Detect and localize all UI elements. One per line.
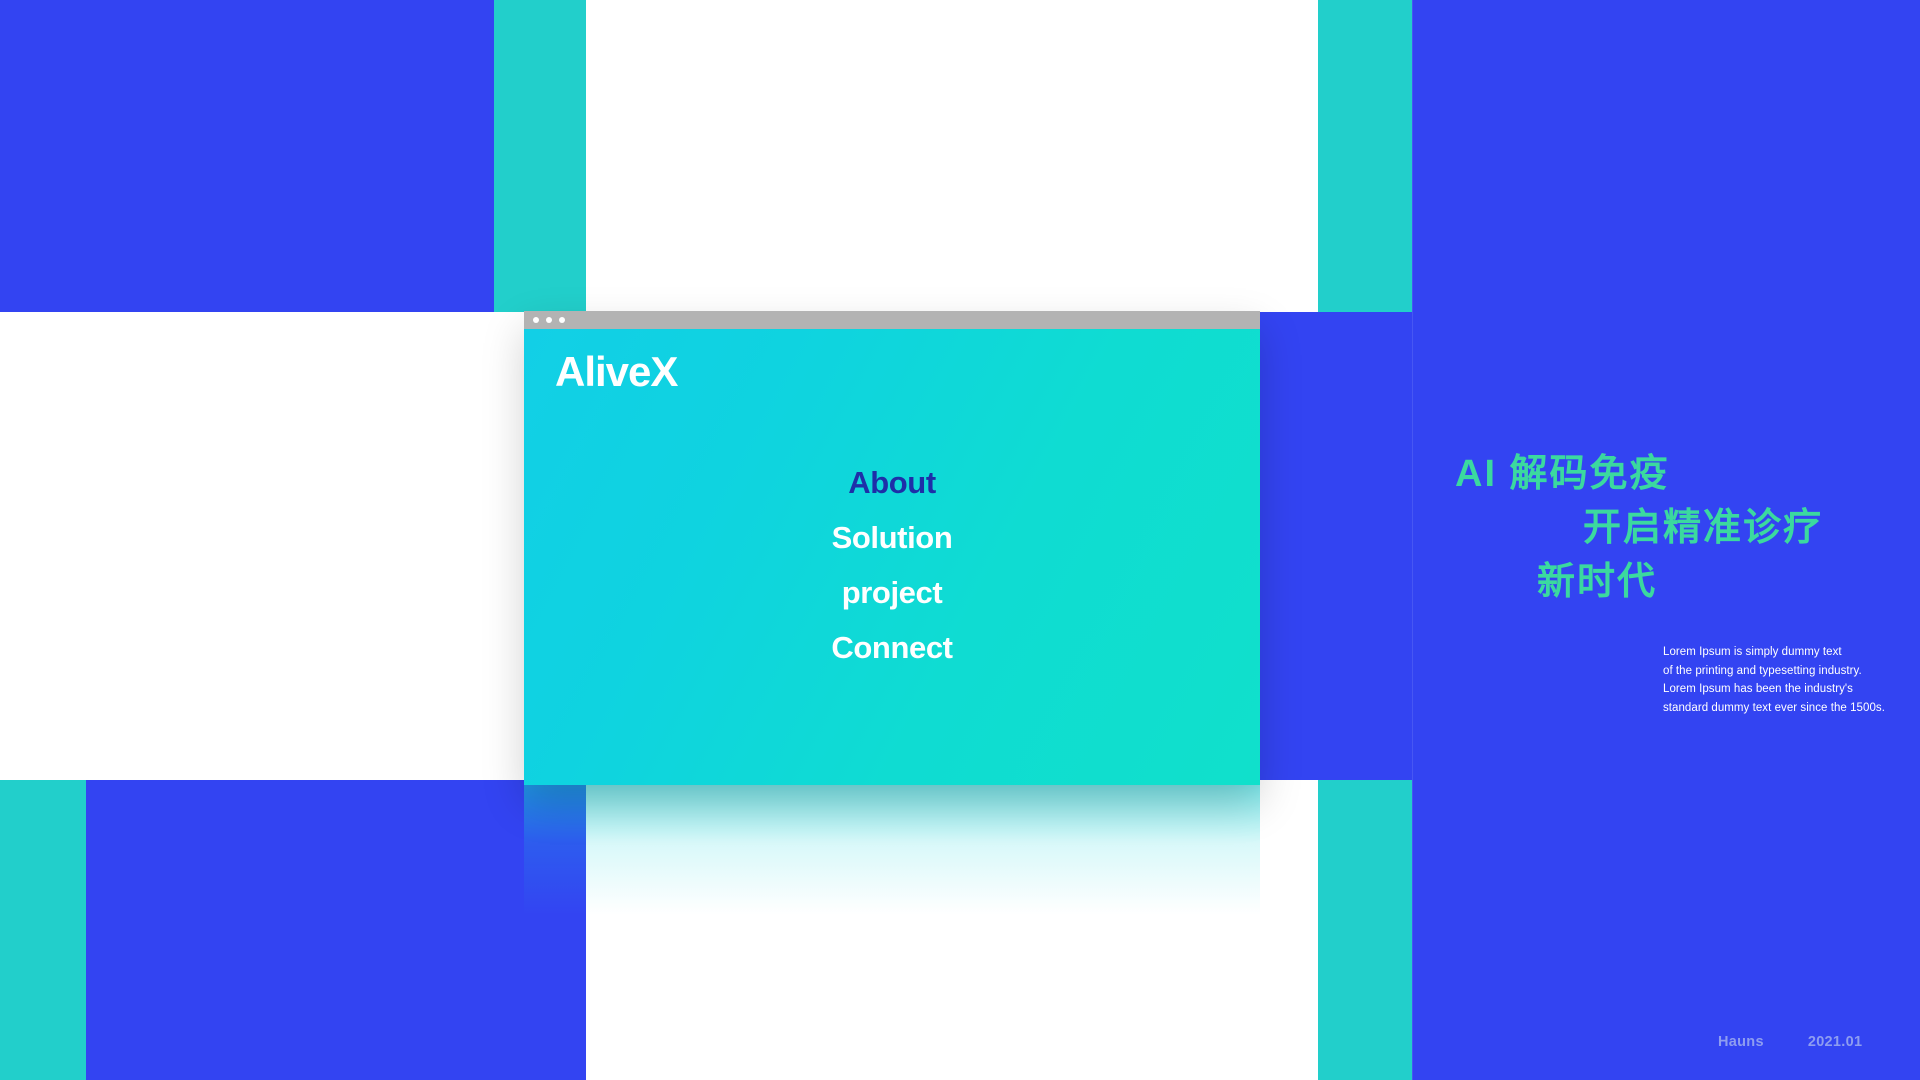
bg-block-bottom-left-teal [0, 780, 86, 1080]
bg-block-top-right-teal-bar [1318, 0, 1412, 312]
slide-canvas: AliveX About Solution project Connect AI… [0, 0, 1920, 1080]
panel-divider-line [1412, 0, 1413, 1080]
footer-author: Hauns [1718, 1034, 1764, 1050]
nav-item-project[interactable]: project [842, 577, 943, 608]
window-maximize-dot-icon[interactable] [559, 317, 565, 323]
nav-item-about[interactable]: About [848, 467, 936, 498]
bg-block-top-left-blue [0, 0, 494, 312]
bg-block-mid-right-blue [1260, 312, 1412, 780]
body-copy-paragraph: Lorem Ipsum is simply dummy text of the … [1663, 643, 1893, 718]
body-copy-line-4: standard dummy text ever since the 1500s… [1663, 699, 1893, 718]
browser-window-reflection [524, 785, 1260, 915]
footer-date: 2021.01 [1808, 1034, 1863, 1050]
bg-block-top-teal-bar [494, 0, 586, 312]
nav-item-connect[interactable]: Connect [831, 632, 952, 663]
main-navigation: About Solution project Connect [524, 467, 1260, 663]
bg-block-bottom-right-teal [1318, 780, 1412, 1080]
nav-item-solution[interactable]: Solution [832, 522, 953, 553]
alivex-logo[interactable]: AliveX [555, 351, 677, 393]
body-copy-line-3: Lorem Ipsum has been the industry's [1663, 680, 1893, 699]
headline-line-3: 新时代 [1455, 556, 1875, 610]
window-close-dot-icon[interactable] [533, 317, 539, 323]
bg-block-bottom-blue [86, 780, 586, 1080]
browser-window-mockup: AliveX About Solution project Connect [524, 311, 1260, 785]
headline-line-1: AI 解码免疫 [1455, 448, 1875, 502]
bg-block-bottom-right-white [1260, 780, 1318, 1080]
browser-titlebar [524, 311, 1260, 329]
body-copy-line-2: of the printing and typesetting industry… [1663, 662, 1893, 681]
page-headline: AI 解码免疫 开启精准诊疗 新时代 [1455, 448, 1875, 610]
browser-viewport: AliveX About Solution project Connect [524, 329, 1260, 785]
window-minimize-dot-icon[interactable] [546, 317, 552, 323]
logo-text: AliveX [555, 348, 677, 395]
body-copy-line-1: Lorem Ipsum is simply dummy text [1663, 643, 1893, 662]
slide-footer: Hauns 2021.01 [1718, 1034, 1898, 1050]
headline-line-2: 开启精准诊疗 [1455, 502, 1875, 556]
